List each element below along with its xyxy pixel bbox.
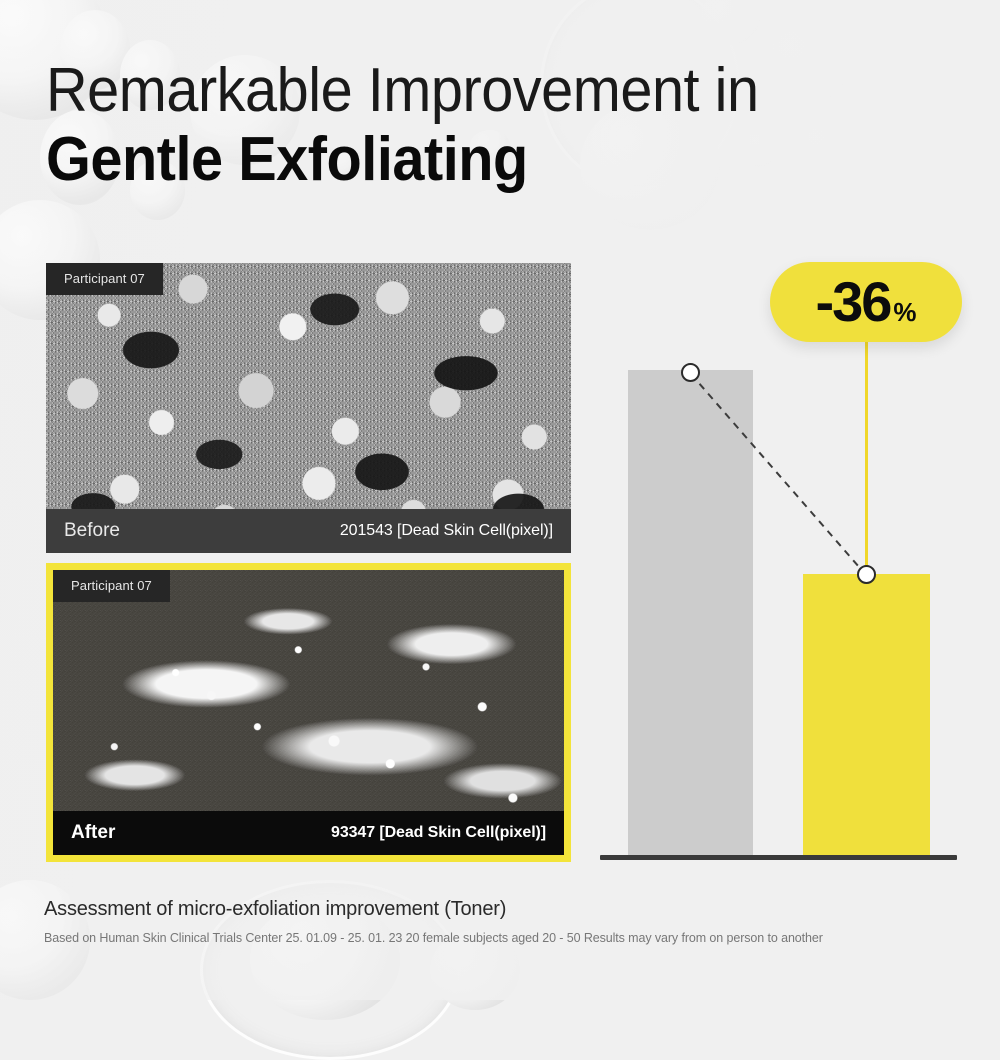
badge-leader-line [865, 342, 868, 575]
marker-before [681, 363, 700, 382]
promo-page: Remarkable Improvement in Gentle Exfolia… [0, 0, 1000, 1000]
headline-line-2: Gentle Exfoliating [46, 123, 864, 196]
badge-value: -36 [815, 274, 890, 330]
after-metric-label: 93347 [Dead Skin Cell(pixel)] [331, 824, 546, 842]
after-state-label: After [71, 822, 115, 844]
status-badge-percent-change: -36 % [770, 262, 962, 342]
page-title: Remarkable Improvement in Gentle Exfolia… [46, 58, 926, 196]
after-participant-tag: Participant 07 [53, 570, 170, 602]
after-caption-bar: After 93347 [Dead Skin Cell(pixel)] [53, 811, 564, 855]
assessment-caption: Assessment of micro-exfoliation improvem… [44, 898, 506, 921]
disclaimer-text: Based on Human Skin Clinical Trials Cent… [44, 931, 823, 945]
before-caption-bar: Before 201543 [Dead Skin Cell(pixel)] [46, 509, 571, 553]
comparison-bar-chart [598, 250, 968, 865]
badge-unit: % [893, 297, 916, 328]
after-image-panel: Participant 07 After 93347 [Dead Skin Ce… [46, 563, 571, 862]
marker-after [857, 565, 876, 584]
before-participant-tag: Participant 07 [46, 263, 163, 295]
headline-line-1: Remarkable Improvement in [46, 58, 864, 123]
before-state-label: Before [64, 520, 120, 542]
dashed-connector-line [598, 250, 968, 865]
before-image-panel: Participant 07 Before 201543 [Dead Skin … [46, 263, 571, 553]
before-metric-label: 201543 [Dead Skin Cell(pixel)] [340, 522, 553, 540]
